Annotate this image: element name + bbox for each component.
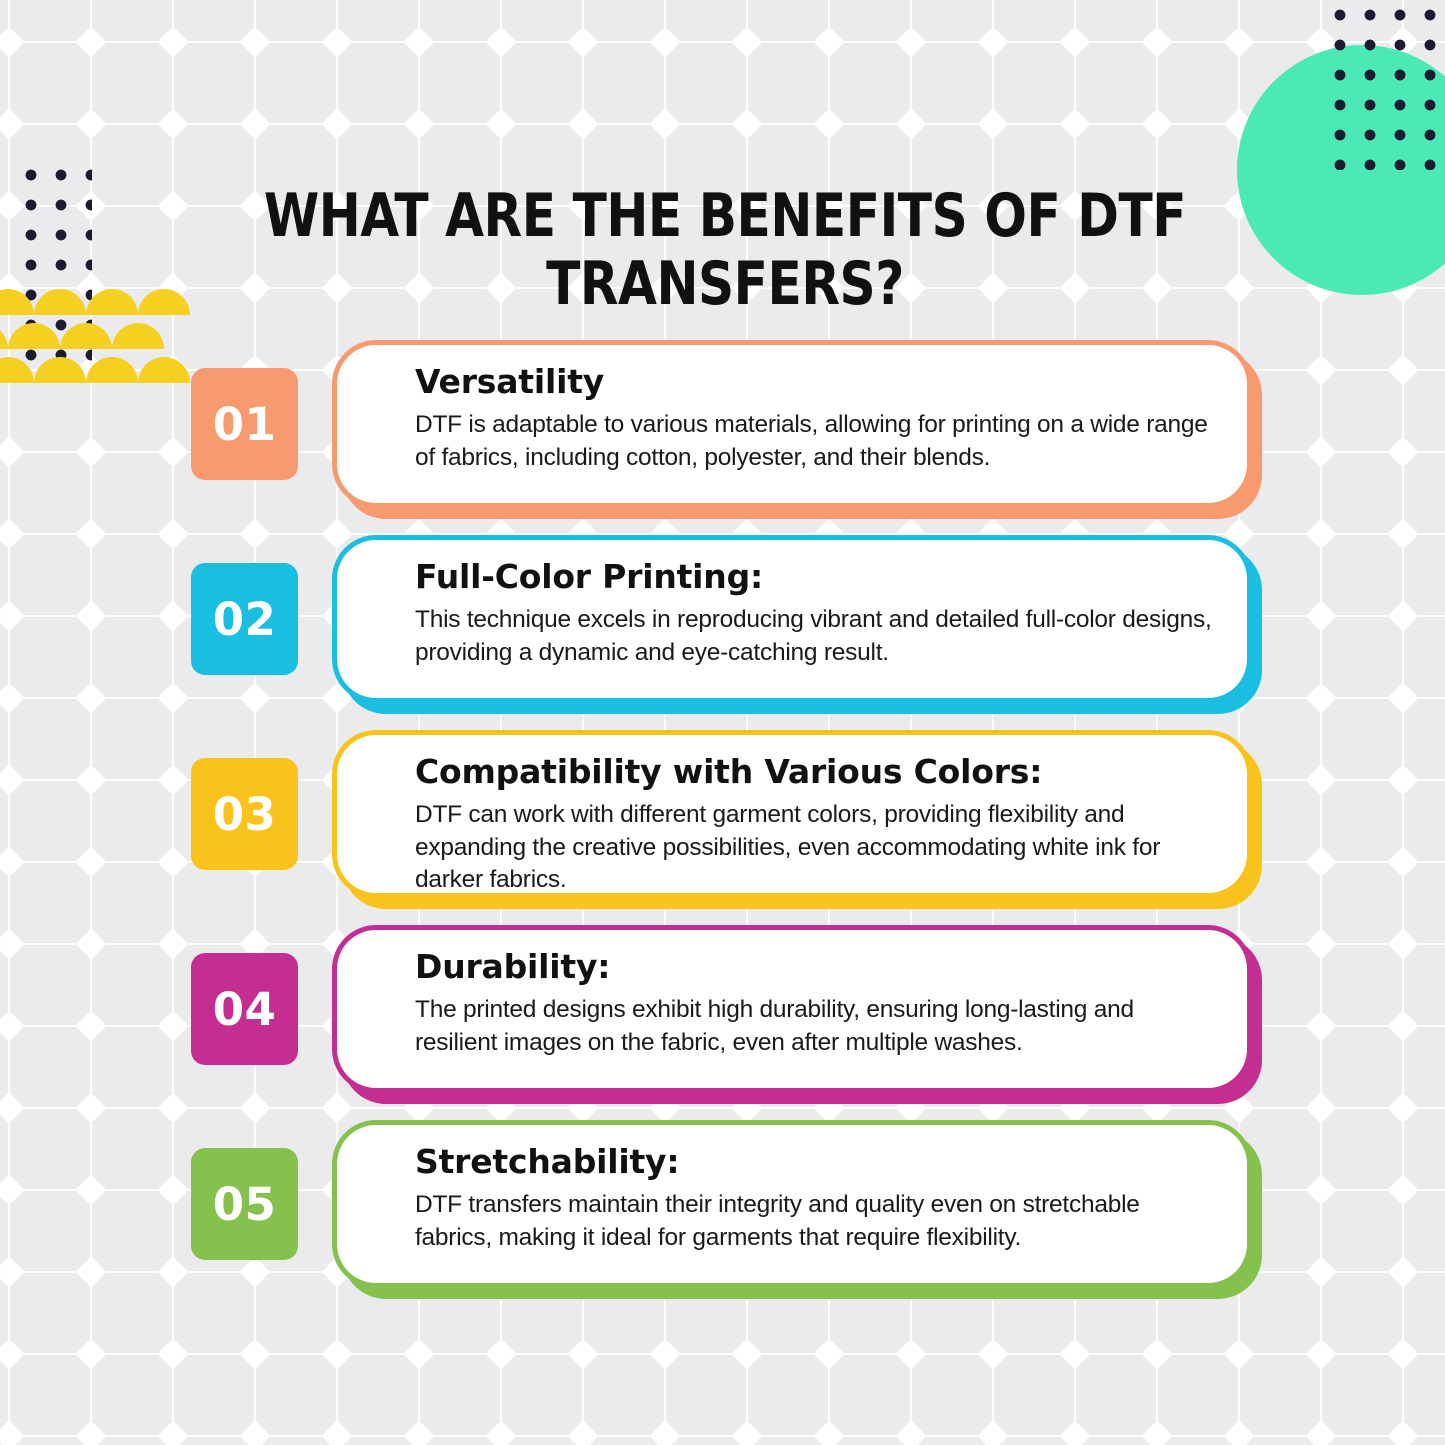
benefit-card: Durability:The printed designs exhibit h… <box>332 925 1252 1093</box>
benefit-row: 03Compatibility with Various Colors:DTF … <box>0 730 1445 925</box>
grid-diamond <box>239 26 270 57</box>
grid-diamond <box>75 108 106 139</box>
grid-diamond <box>75 26 106 57</box>
grid-diamond <box>403 1420 434 1445</box>
grid-diamond <box>239 108 270 139</box>
page-title: WHAT ARE THE BENEFITS OF DTF TRANSFERS? <box>227 183 1222 319</box>
benefit-title: Full-Color Printing: <box>415 558 1213 596</box>
benefit-card-face: Compatibility with Various Colors:DTF ca… <box>332 730 1252 898</box>
grid-diamond <box>403 108 434 139</box>
grid-diamond <box>731 108 762 139</box>
semicircle-arch <box>34 289 86 315</box>
grid-diamond <box>895 108 926 139</box>
grid-diamond <box>1305 1338 1336 1369</box>
benefit-card: VersatilityDTF is adaptable to various m… <box>332 340 1252 508</box>
benefit-title: Durability: <box>415 948 1213 986</box>
benefit-number-badge: 01 <box>191 368 298 480</box>
grid-diamond <box>321 1420 352 1445</box>
grid-diamond <box>567 1338 598 1369</box>
grid-diamond <box>321 26 352 57</box>
grid-diamond <box>0 26 25 57</box>
benefit-title: Stretchability: <box>415 1143 1213 1181</box>
arch-row <box>0 283 148 315</box>
benefit-card: Stretchability:DTF transfers maintain th… <box>332 1120 1252 1288</box>
grid-diamond <box>1141 1338 1172 1369</box>
benefit-row: 05Stretchability:DTF transfers maintain … <box>0 1120 1445 1315</box>
grid-diamond <box>321 1338 352 1369</box>
benefit-number-badge: 02 <box>191 563 298 675</box>
benefit-number-badge: 04 <box>191 953 298 1065</box>
grid-diamond <box>1223 272 1254 303</box>
benefit-row: 04Durability:The printed designs exhibit… <box>0 925 1445 1120</box>
grid-diamond <box>649 1338 680 1369</box>
grid-diamond <box>157 1420 188 1445</box>
grid-diamond <box>485 108 516 139</box>
grid-diamond <box>1059 1338 1090 1369</box>
grid-diamond <box>157 26 188 57</box>
grid-diamond <box>157 190 188 221</box>
grid-diamond <box>321 108 352 139</box>
grid-diamond <box>813 1420 844 1445</box>
semicircle-arch <box>138 289 190 315</box>
grid-diamond <box>813 1338 844 1369</box>
grid-diamond <box>649 26 680 57</box>
grid-diamond <box>731 1338 762 1369</box>
grid-diamond <box>239 1338 270 1369</box>
grid-diamond <box>485 1338 516 1369</box>
benefit-card: Full-Color Printing:This technique excel… <box>332 535 1252 703</box>
grid-diamond <box>567 1420 598 1445</box>
grid-diamond <box>157 1338 188 1369</box>
benefit-card-face: Full-Color Printing:This technique excel… <box>332 535 1252 703</box>
grid-diamond <box>1059 26 1090 57</box>
grid-diamond <box>813 108 844 139</box>
benefit-description: The printed designs exhibit high durabil… <box>415 994 1213 1059</box>
benefit-number-badge: 05 <box>191 1148 298 1260</box>
semicircle-arch <box>0 289 34 315</box>
grid-diamond <box>75 1338 106 1369</box>
benefit-description: DTF is adaptable to various materials, a… <box>415 409 1213 474</box>
grid-diamond <box>1141 26 1172 57</box>
grid-diamond <box>649 1420 680 1445</box>
grid-diamond <box>977 26 1008 57</box>
benefit-description: This technique excels in reproducing vib… <box>415 604 1213 669</box>
grid-diamond <box>977 1338 1008 1369</box>
grid-diamond <box>0 1338 25 1369</box>
benefit-title: Compatibility with Various Colors: <box>415 753 1213 791</box>
grid-diamond <box>731 1420 762 1445</box>
benefit-number-badge: 03 <box>191 758 298 870</box>
benefit-row: 01VersatilityDTF is adaptable to various… <box>0 340 1445 535</box>
grid-diamond <box>731 26 762 57</box>
grid-diamond <box>1141 108 1172 139</box>
dot-grid-top-right-decoration <box>1325 0 1445 170</box>
benefit-description: DTF transfers maintain their integrity a… <box>415 1189 1213 1254</box>
benefit-card-face: Stretchability:DTF transfers maintain th… <box>332 1120 1252 1288</box>
benefits-list: 01VersatilityDTF is adaptable to various… <box>0 340 1445 1315</box>
grid-diamond <box>1141 1420 1172 1445</box>
grid-diamond <box>1387 1338 1418 1369</box>
grid-diamond <box>485 26 516 57</box>
grid-diamond <box>0 1420 25 1445</box>
grid-diamond <box>1059 1420 1090 1445</box>
grid-diamond <box>157 108 188 139</box>
grid-diamond <box>403 26 434 57</box>
infographic-poster: WHAT ARE THE BENEFITS OF DTF TRANSFERS? … <box>0 0 1445 1445</box>
grid-diamond <box>567 108 598 139</box>
grid-diamond <box>813 26 844 57</box>
grid-diamond <box>1305 1420 1336 1445</box>
semicircle-arch <box>86 289 138 315</box>
grid-diamond <box>1223 1338 1254 1369</box>
grid-diamond <box>0 108 25 139</box>
grid-diamond <box>1059 108 1090 139</box>
grid-diamond <box>895 1338 926 1369</box>
benefit-title: Versatility <box>415 363 1213 401</box>
grid-diamond <box>649 108 680 139</box>
grid-diamond <box>403 1338 434 1369</box>
benefit-description: DTF can work with different garment colo… <box>415 799 1213 897</box>
grid-diamond <box>1387 1420 1418 1445</box>
grid-diamond <box>75 1420 106 1445</box>
grid-diamond <box>977 1420 1008 1445</box>
grid-diamond <box>239 1420 270 1445</box>
grid-diamond <box>567 26 598 57</box>
grid-diamond <box>485 1420 516 1445</box>
benefit-row: 02Full-Color Printing:This technique exc… <box>0 535 1445 730</box>
grid-diamond <box>977 108 1008 139</box>
benefit-card-face: VersatilityDTF is adaptable to various m… <box>332 340 1252 508</box>
grid-diamond <box>895 1420 926 1445</box>
benefit-card: Compatibility with Various Colors:DTF ca… <box>332 730 1252 898</box>
grid-diamond <box>895 26 926 57</box>
grid-diamond <box>1223 26 1254 57</box>
benefit-card-face: Durability:The printed designs exhibit h… <box>332 925 1252 1093</box>
grid-diamond <box>1223 1420 1254 1445</box>
